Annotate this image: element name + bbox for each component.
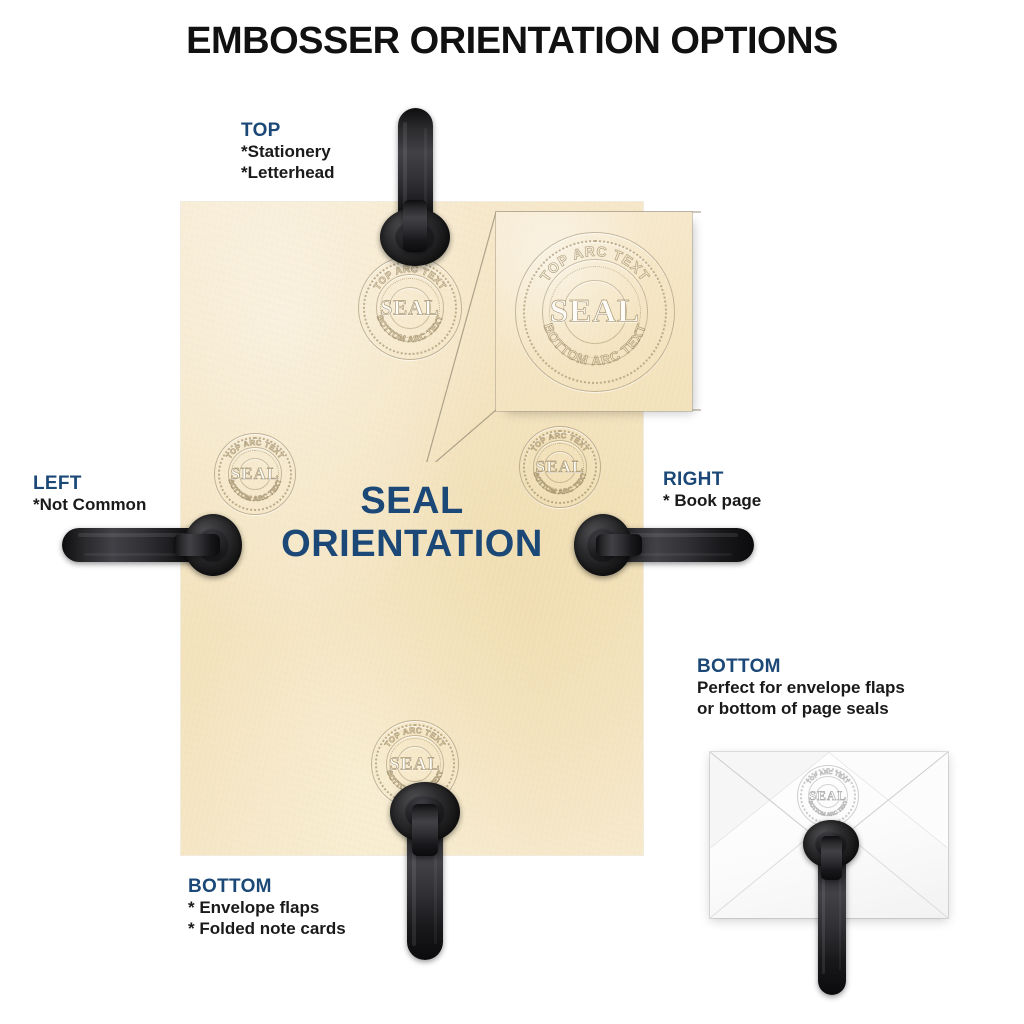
- seal-ring-outer: [515, 232, 675, 392]
- seal-ring-dots-inner: [549, 266, 642, 359]
- seal-impression-magnified: TOP ARC TEXT BOTTOM ARC TEXT SEAL: [515, 232, 675, 392]
- callout-right-line-0: * Book page: [663, 491, 761, 512]
- svg-text:BOTTOM ARC TEXT: BOTTOM ARC TEXT: [541, 321, 650, 368]
- callout-bottom-left: BOTTOM * Envelope flaps * Folded note ca…: [188, 876, 346, 939]
- svg-text:TOP ARC TEXT: TOP ARC TEXT: [537, 243, 654, 284]
- seal-center-text: SEAL: [515, 294, 675, 331]
- envelope-illustration: [710, 752, 948, 918]
- callout-top-line-0: *Stationery: [241, 142, 335, 163]
- callout-top-line-1: *Letterhead: [241, 163, 335, 184]
- callout-bottom-right-line-1: or bottom of page seals: [697, 699, 905, 720]
- seal-ring-dots: [523, 240, 667, 384]
- envelope-seams: [710, 752, 948, 918]
- callout-right: RIGHT * Book page: [663, 469, 761, 512]
- infographic-canvas: EMBOSSER ORIENTATION OPTIONS TOP ARC TEX…: [0, 0, 1024, 1024]
- seal-ring-mid: [542, 259, 648, 365]
- page-title: EMBOSSER ORIENTATION OPTIONS: [0, 20, 1024, 63]
- callout-bottom-left-line-1: * Folded note cards: [188, 919, 346, 940]
- center-headline: SEAL ORIENTATION: [181, 480, 643, 565]
- seal-ring-inner: [563, 280, 627, 344]
- callout-bottom-left-line-0: * Envelope flaps: [188, 898, 346, 919]
- callout-bottom-right-line-0: Perfect for envelope flaps: [697, 678, 905, 699]
- center-headline-line2: ORIENTATION: [181, 523, 643, 566]
- seal-top-arc: TOP ARC TEXT: [537, 243, 654, 284]
- callout-top: TOP *Stationery *Letterhead: [241, 120, 335, 183]
- callout-left-head: LEFT: [33, 473, 146, 495]
- callout-top-head: TOP: [241, 120, 335, 142]
- seal-arc-text: TOP ARC TEXT BOTTOM ARC TEXT: [515, 232, 675, 392]
- callout-bottom-left-head: BOTTOM: [188, 876, 346, 898]
- callout-bottom-right-head: BOTTOM: [697, 656, 905, 678]
- center-headline-line1: SEAL: [181, 480, 643, 523]
- callout-left-line-0: *Not Common: [33, 495, 146, 516]
- seal-bottom-arc: BOTTOM ARC TEXT: [541, 321, 650, 368]
- magnifier-inset-panel: TOP ARC TEXT BOTTOM ARC TEXT SEAL: [496, 212, 692, 411]
- callout-right-head: RIGHT: [663, 469, 761, 491]
- callout-left: LEFT *Not Common: [33, 473, 146, 516]
- callout-bottom-right: BOTTOM Perfect for envelope flaps or bot…: [697, 656, 905, 719]
